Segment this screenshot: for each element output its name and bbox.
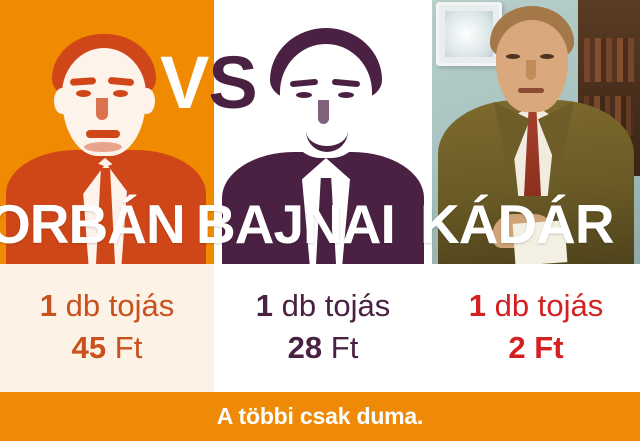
price-quantity-line-orban: 1 db tojás: [40, 286, 174, 326]
amount-bajnai: 28: [288, 330, 322, 365]
quantity-kadar: 1: [469, 288, 486, 323]
unit-kadar: db tojás: [495, 288, 604, 323]
unit-bajnai: db tojás: [282, 288, 391, 323]
price-band: 1 db tojás 45 Ft 1 db tojás 28 Ft 1 db t…: [0, 264, 640, 392]
footer-slogan: A többi csak duma.: [217, 403, 423, 430]
bajnai-portrait-icon: [214, 0, 432, 264]
currency-orban: Ft: [115, 330, 143, 365]
panel-orban: [0, 0, 214, 264]
price-amount-line-orban: 45 Ft: [72, 326, 143, 370]
quantity-orban: 1: [40, 288, 57, 323]
price-col-orban: 1 db tojás 45 Ft: [0, 264, 214, 392]
kadar-portrait-icon: [432, 0, 640, 264]
vs-letter-v: V: [160, 41, 208, 124]
price-amount-line-kadar: 2 Ft: [508, 326, 563, 370]
orban-portrait-icon: [0, 0, 214, 264]
amount-kadar: 2: [508, 330, 525, 365]
vs-label: VS: [160, 44, 280, 122]
quantity-bajnai: 1: [256, 288, 273, 323]
price-quantity-line-kadar: 1 db tojás: [469, 286, 603, 326]
portrait-band: [0, 0, 640, 264]
price-quantity-line-bajnai: 1 db tojás: [256, 286, 390, 326]
poster-root: VS ORBÁN BAJNAI KÁDÁR 1 db tojás 45 Ft 1…: [0, 0, 640, 441]
panel-kadar: [432, 0, 640, 264]
amount-orban: 45: [72, 330, 106, 365]
price-amount-line-bajnai: 28 Ft: [288, 326, 359, 370]
price-col-kadar: 1 db tojás 2 Ft: [432, 264, 640, 392]
currency-kadar: Ft: [534, 330, 563, 365]
price-col-bajnai: 1 db tojás 28 Ft: [214, 264, 432, 392]
panel-bajnai: [214, 0, 432, 264]
currency-bajnai: Ft: [331, 330, 359, 365]
unit-orban: db tojás: [66, 288, 175, 323]
footer-banner: A többi csak duma.: [0, 392, 640, 441]
vs-letter-s: S: [208, 41, 256, 124]
